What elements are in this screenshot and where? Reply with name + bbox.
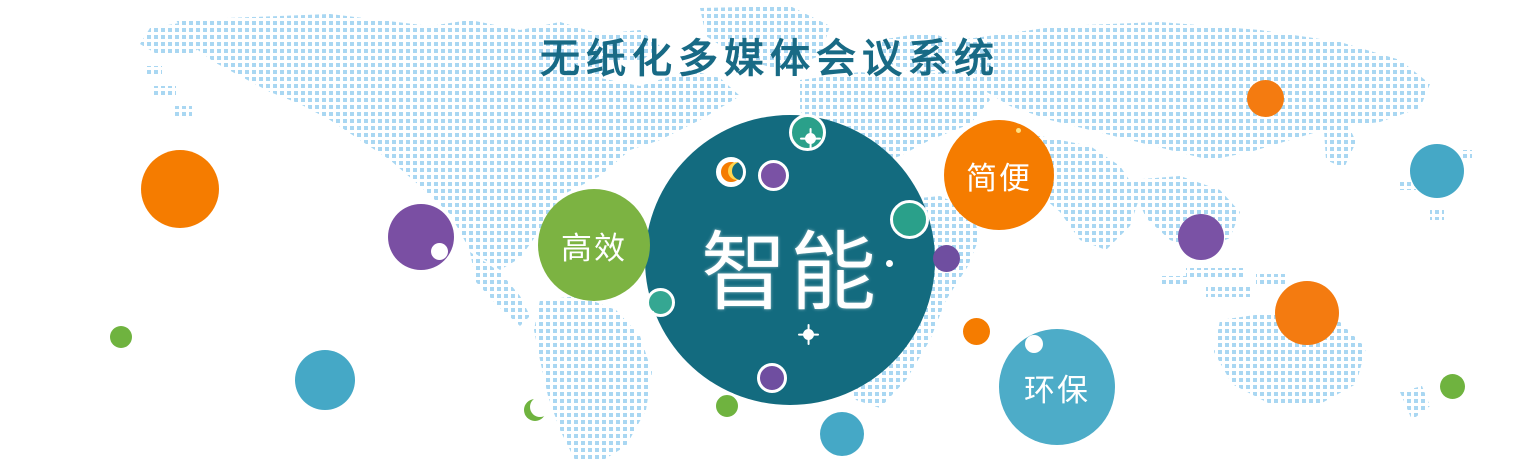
hub-micro-bubble-purple-ringed [758, 160, 789, 191]
decor-bubble-purple-right [1178, 214, 1224, 260]
decor-bubble-orange-top-right [1247, 80, 1284, 117]
crescent-cut-green-low [530, 397, 550, 417]
feature-bubble-huanbao-label: 环保 [999, 329, 1115, 445]
decor-bubble-orange-right-large [1275, 281, 1339, 345]
white-dot-hub-right [886, 260, 893, 267]
white-dot-jianbian-highlight [1016, 128, 1021, 133]
decor-bubble-teal-top-right [1410, 144, 1464, 198]
hub-micro-bubble-teal-ringed-left [646, 288, 675, 317]
feature-bubble-gaoxiao[interactable]: 高效 [538, 189, 650, 301]
hub-micro-bubble-orange-ring-outline [716, 157, 746, 187]
decor-bubble-green-far-right [1440, 374, 1465, 399]
decor-bubble-blue-lower-center [820, 412, 864, 456]
decor-bubble-purple-mid-right [933, 245, 960, 272]
hub-micro-bubble-purple-ringed-low [757, 363, 787, 393]
decor-bubble-orange-mid-right [963, 318, 990, 345]
banner-root: 无纸化多媒体会议系统 智能 高效 简便 环保 [0, 0, 1540, 465]
hub-micro-bubble-teal-ringed-right [890, 200, 929, 239]
feature-bubble-gaoxiao-label: 高效 [538, 189, 650, 301]
highlight-dot-purple-left [431, 243, 448, 260]
decor-bubble-blue-mid-left [295, 350, 355, 410]
white-dot-huanbao-highlight [1025, 335, 1043, 353]
decor-bubble-purple-left [388, 204, 454, 270]
hub-micro-bubble-green-ringed-low [713, 392, 741, 420]
feature-bubble-huanbao[interactable]: 环保 [999, 329, 1115, 445]
feature-bubble-jianbian[interactable]: 简便 [944, 120, 1054, 230]
feature-bubble-jianbian-label: 简便 [944, 120, 1054, 230]
decor-bubble-green-small-left [110, 326, 132, 348]
decor-bubble-orange-large-left [141, 150, 219, 228]
page-title: 无纸化多媒体会议系统 [0, 26, 1540, 84]
hub-micro-bubble-teal-ringed-top [789, 114, 826, 151]
